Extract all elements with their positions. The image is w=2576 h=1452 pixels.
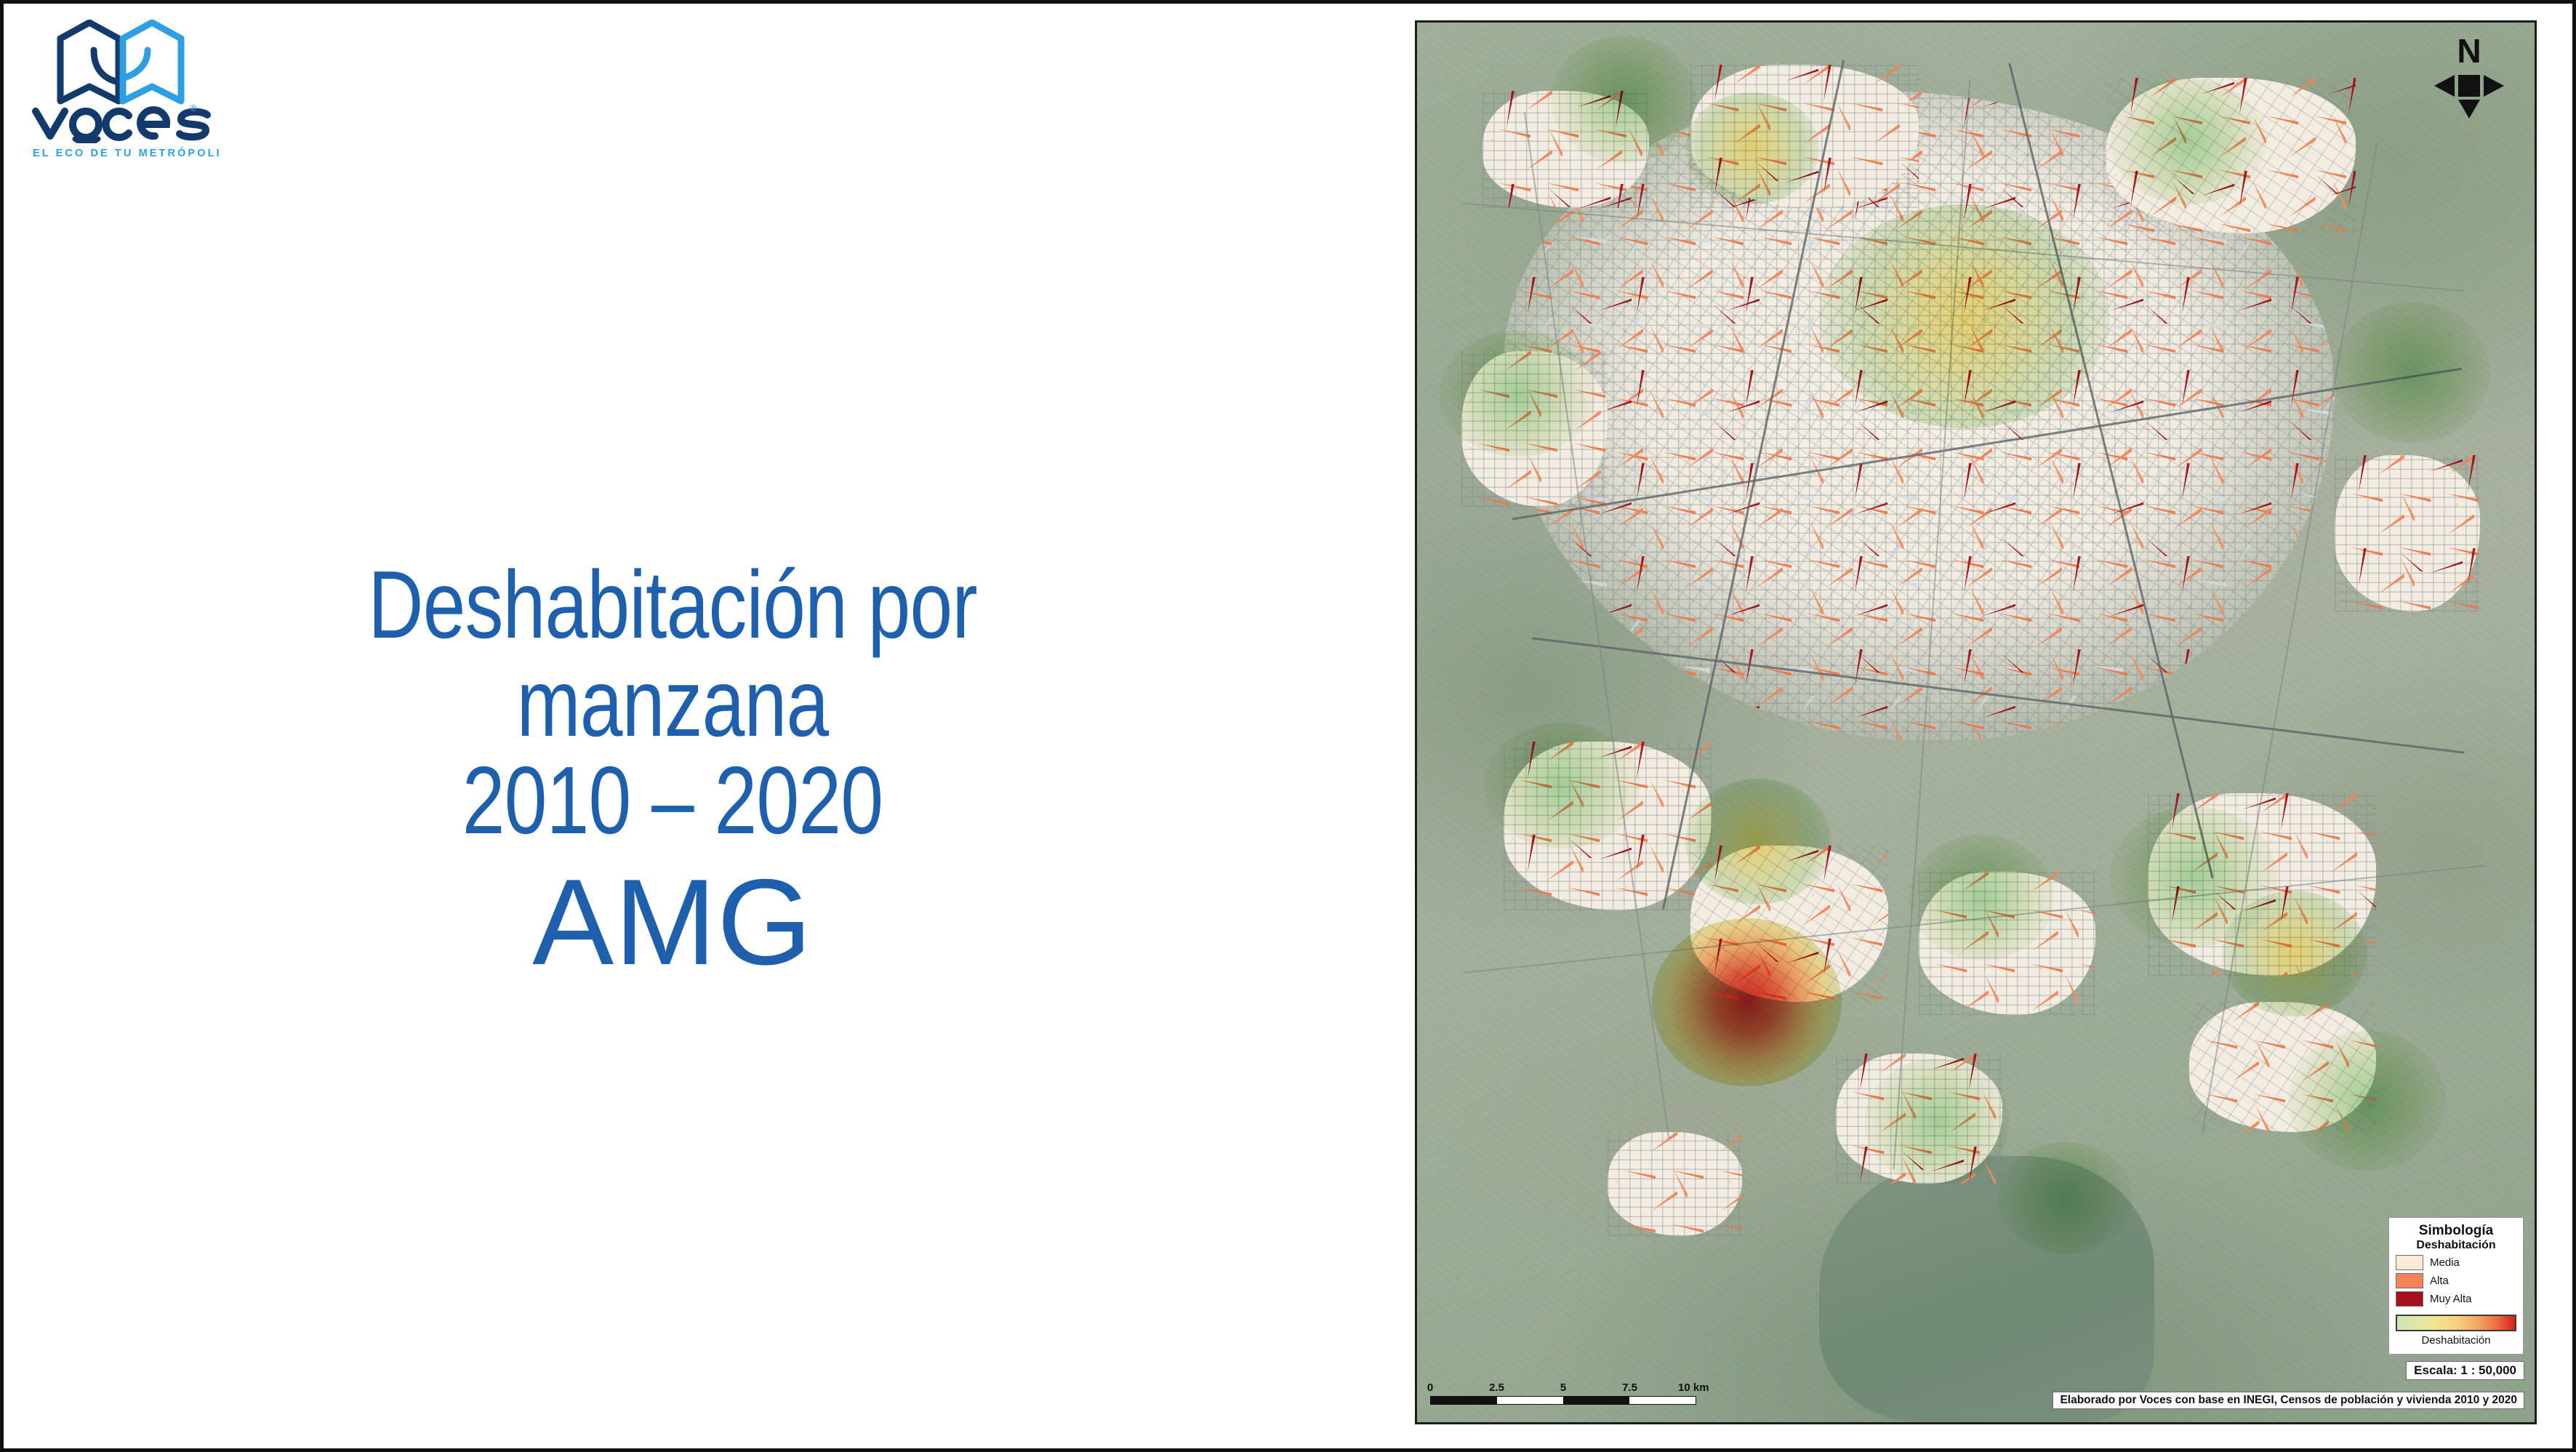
scalebar-tick-0: 0 [1427,1381,1433,1394]
voces-logo: ® EL ECO DE TU METRÓPOLI [24,14,220,174]
urban-cluster-nw [1482,91,1649,208]
compass-center [2458,75,2480,97]
urban-cluster-ne [2106,78,2356,234]
title-line-3: 2010 – 2020 [219,752,1126,850]
legend-item-muy-alta: Muy Alta [2396,1291,2516,1307]
legend-item-media: Media [2396,1255,2516,1270]
logo-tagline: EL ECO DE TU METRÓPOLI [33,148,213,159]
legend-label-media: Media [2430,1256,2460,1269]
legend-swatch-media [2396,1255,2423,1270]
legend-label-alta: Alta [2430,1275,2449,1287]
legend-swatch-muy-alta [2396,1291,2423,1307]
scalebar-segment-1 [1431,1397,1497,1404]
compass-arrow-left-icon [2434,75,2455,97]
scalebar-segment-4 [1629,1397,1696,1404]
title-line-2: manzana [219,654,1126,753]
map-attribution: Elaborado por Voces con base en INEGI, C… [2053,1392,2524,1409]
urban-cluster-s1 [1690,846,1888,1002]
legend-item-alta: Alta [2396,1273,2516,1288]
legend-swatch-alta [2396,1273,2423,1288]
scalebar-segment-2 [1497,1397,1563,1404]
compass-arrow-down-icon [2458,100,2480,119]
voces-wordmark [31,103,217,143]
registered-trademark-icon: ® [190,103,197,113]
scalebar-tick-labels: 0 2.5 5 7.5 10 km [1430,1381,1696,1396]
legend-gradient-ramp [2396,1315,2516,1331]
page-title: Deshabitación por manzana 2010 – 2020 AM… [105,556,1240,984]
map-urban-area [1461,65,2500,1366]
urban-cluster-s2 [1919,872,2095,1015]
urban-cluster-e [2335,455,2480,611]
north-label: N [2430,34,2508,68]
urban-cluster-s3 [1836,1054,2002,1184]
scalebar-tick-10: 10 km [1678,1381,1709,1394]
book-house-logo-icon [52,20,190,107]
urban-cluster-se [2148,793,2376,976]
scalebar-tick-2_5: 2.5 [1489,1381,1504,1394]
scalebar-segments [1430,1396,1696,1405]
map-scale-text: Escala: 1 : 50,000 [2406,1361,2524,1380]
title-line-1: Deshabitación por [219,556,1126,654]
legend-subtitle: Deshabitación [2396,1239,2516,1252]
presentation-slide: ® EL ECO DE TU METRÓPOLI Deshabitación p… [0,0,2576,1452]
urban-cluster-se2 [2189,1002,2376,1132]
map-scalebar: 0 2.5 5 7.5 10 km [1430,1381,1696,1405]
map-legend: Simbología Deshabitación Media Alta Muy … [2388,1216,2524,1355]
north-arrow-icon: N [2430,34,2508,116]
urban-cluster-n [1690,65,1919,208]
urban-cluster-s4 [1608,1132,1743,1236]
scalebar-tick-7_5: 7.5 [1622,1381,1637,1394]
legend-label-muy-alta: Muy Alta [2430,1293,2472,1305]
slide-canvas: ® EL ECO DE TU METRÓPOLI Deshabitación p… [4,4,2572,1448]
legend-ramp-label: Deshabitación [2396,1334,2516,1347]
scalebar-segment-3 [1563,1397,1629,1404]
map-image[interactable]: N Simbología Deshabitación Media Alta [1415,20,2537,1424]
compass-arrow-right-icon [2484,75,2504,97]
legend-title: Simbología [2396,1224,2516,1239]
title-line-4: AMG [105,860,1240,984]
scalebar-tick-5: 5 [1560,1381,1566,1394]
urban-cluster-w [1461,351,1607,508]
